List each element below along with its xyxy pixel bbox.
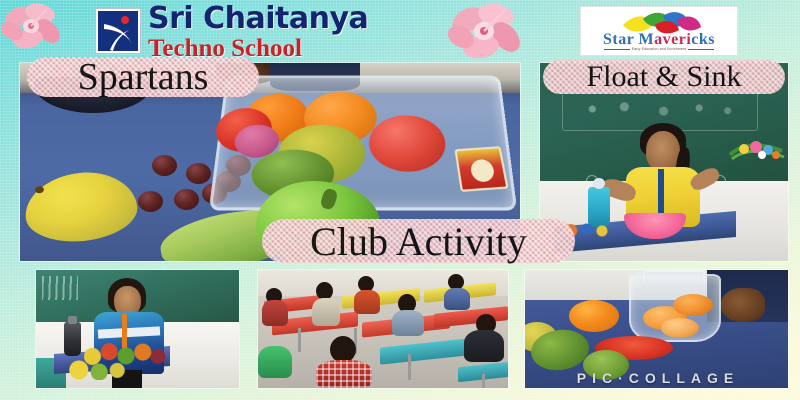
mavericks-tagline-text: Early Education and Enrichment <box>632 47 686 51</box>
photo-plum <box>138 191 163 212</box>
photo-student-face <box>646 131 680 171</box>
photo-student-body <box>392 310 424 336</box>
photo-board-writing <box>42 276 78 300</box>
mavericks-word-part3: cks <box>691 31 715 48</box>
photo-collage-canvas: Sri Chaitanya Techno School <box>0 0 800 400</box>
mavericks-word-part2: averi <box>654 31 691 48</box>
label-club-activity: Club Activity <box>262 219 575 263</box>
label-float-sink: Float & Sink <box>543 60 785 94</box>
emblem-figure-icon <box>102 20 138 53</box>
mavericks-tagline: Early Education and Enrichment <box>581 48 737 51</box>
photo-paper-flower-garland-icon <box>728 135 786 169</box>
hibiscus-flower-icon <box>448 0 524 62</box>
photo-submerged-fruit <box>673 294 713 316</box>
pic-collage-watermark: PIC·COLLAGE <box>560 369 756 386</box>
label-spartans: Spartans <box>27 57 259 97</box>
mavericks-wordmark: Star Mavericks <box>581 32 737 48</box>
header-band: Sri Chaitanya Techno School <box>0 0 800 62</box>
photo-apple <box>369 115 448 171</box>
school-name-line1: Sri Chaitanya <box>148 4 458 34</box>
photo-student-plaid-shirt <box>316 360 372 388</box>
photo-classroom[interactable] <box>258 270 508 388</box>
photo-student-body <box>464 330 504 362</box>
photo-plum <box>186 163 211 184</box>
photo-student-head <box>330 336 356 363</box>
photo-student-body <box>354 290 380 314</box>
photo-container-label <box>454 146 508 192</box>
photo-fruit-display <box>68 360 128 380</box>
school-emblem-icon <box>96 9 140 53</box>
photo-glass-jar <box>629 274 721 342</box>
photo-desk-leg <box>482 374 485 388</box>
school-name-block: Sri Chaitanya Techno School <box>148 4 458 61</box>
star-mavericks-logo-icon: Star Mavericks Early Education and Enric… <box>580 6 738 56</box>
photo-student-body <box>312 298 340 326</box>
photo-student-body <box>262 300 288 326</box>
photo-green-chair <box>258 346 292 378</box>
mavericks-word-part1: Star M <box>603 31 654 48</box>
photo-student-lanyard <box>658 169 664 219</box>
photo-submerged-fruit <box>661 318 699 338</box>
photo-orange <box>569 300 619 332</box>
hibiscus-flower-icon <box>2 1 64 53</box>
photo-student-body <box>444 288 470 310</box>
photo-hand <box>721 288 765 322</box>
photo-plum <box>152 155 177 176</box>
photo-student-tray[interactable] <box>36 270 239 388</box>
photo-plastic-container <box>209 76 518 211</box>
photo-desk-leg <box>408 354 411 380</box>
photo-plum <box>174 189 199 210</box>
photo-desk-leg <box>298 328 301 352</box>
photo-water-bottle <box>64 322 81 356</box>
